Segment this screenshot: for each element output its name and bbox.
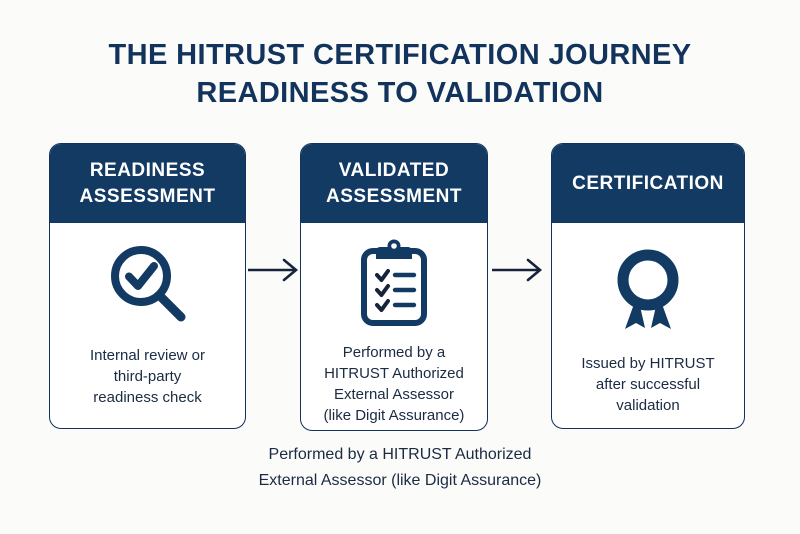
footer-caption: Performed by a HITRUST Authorized Extern… xyxy=(0,442,800,494)
award-ribbon-icon xyxy=(608,247,688,333)
step-text-line: Performed by a xyxy=(324,342,465,363)
caption-line-2: External Assessor (like Digit Assurance) xyxy=(0,468,800,494)
step-card-body: Issued by HITRUST after successful valid… xyxy=(552,223,744,428)
step-card-text: Internal review or third-party readiness… xyxy=(90,345,205,408)
step-text-line: third-party xyxy=(90,366,205,387)
arrow-step2-to-step3 xyxy=(492,258,544,287)
arrow-step1-to-step2 xyxy=(248,258,300,287)
step-card-header: CERTIFICATION xyxy=(552,144,744,223)
title-line-1: THE HITRUST CERTIFICATION JOURNEY xyxy=(0,36,800,74)
step-card-text: Performed by a HITRUST Authorized Extern… xyxy=(324,342,465,426)
step-text-line: Internal review or xyxy=(90,345,205,366)
title-line-2: READINESS TO VALIDATION xyxy=(0,74,800,112)
step-header-line-2: ASSESSMENT xyxy=(80,184,216,210)
magnifier-check-icon xyxy=(103,241,193,327)
step-card-certification: CERTIFICATION Issued by HITRUST after su… xyxy=(551,143,745,429)
caption-line-1: Performed by a HITRUST Authorized xyxy=(0,442,800,468)
step-text-line: readiness check xyxy=(90,387,205,408)
step-card-validated-assessment: VALIDATED ASSESSMENT Perfor xyxy=(300,143,488,431)
step-header-line-1: VALIDATED xyxy=(339,158,449,184)
step-text-line: External Assessor xyxy=(324,384,465,405)
step-header-line-1: CERTIFICATION xyxy=(572,171,724,197)
page-title: THE HITRUST CERTIFICATION JOURNEY READIN… xyxy=(0,36,800,112)
step-text-line: Issued by HITRUST xyxy=(581,353,714,374)
step-header-line-1: READINESS xyxy=(90,158,205,184)
step-text-line: (like Digit Assurance) xyxy=(324,405,465,426)
step-card-body: Internal review or third-party readiness… xyxy=(50,223,245,428)
step-text-line: after successful xyxy=(581,374,714,395)
step-header-line-2: ASSESSMENT xyxy=(326,184,462,210)
infographic-canvas: THE HITRUST CERTIFICATION JOURNEY READIN… xyxy=(0,0,800,534)
step-card-header: READINESS ASSESSMENT xyxy=(50,144,245,223)
step-text-line: validation xyxy=(581,395,714,416)
step-text-line: HITRUST Authorized xyxy=(324,363,465,384)
clipboard-checklist-icon xyxy=(356,237,432,329)
step-card-readiness-assessment: READINESS ASSESSMENT Internal review or … xyxy=(49,143,246,429)
step-card-header: VALIDATED ASSESSMENT xyxy=(301,144,487,223)
step-card-text: Issued by HITRUST after successful valid… xyxy=(581,353,714,416)
step-card-body: Performed by a HITRUST Authorized Extern… xyxy=(301,223,487,431)
